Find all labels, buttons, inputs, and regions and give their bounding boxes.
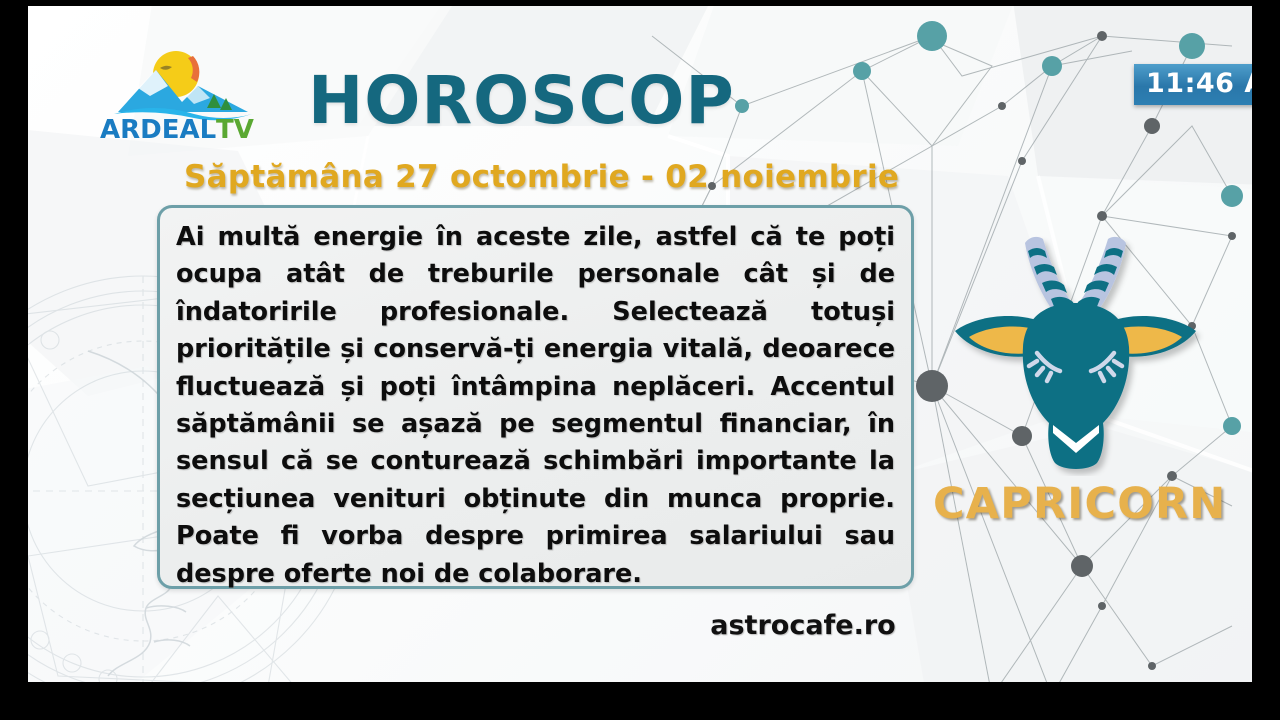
clock-badge: 11:46 AM <box>1134 64 1252 105</box>
source-credit: astrocafe.ro <box>628 610 978 641</box>
capricorn-goat-head-icon <box>933 211 1218 476</box>
graphics-stage: ARDEAL TV HOROSCOP Săptămâna 27 octombri… <box>28 6 1252 682</box>
logo-secondary-text: TV <box>216 115 254 145</box>
horoscope-text-card: Ai multă energie în aceste zile, astfel … <box>157 205 914 589</box>
week-range-subtitle: Săptămâna 27 octombrie - 02 noiembrie <box>184 160 899 194</box>
page-title: HOROSCOP <box>308 68 735 134</box>
broadcast-screen: ARDEAL TV HOROSCOP Săptămâna 27 octombri… <box>0 0 1280 720</box>
zodiac-sign-name: CAPRICORN <box>933 479 1223 529</box>
channel-logo: ARDEAL TV <box>98 46 268 141</box>
horoscope-body-text: Ai multă energie în aceste zile, astfel … <box>176 219 895 593</box>
logo-primary-text: ARDEAL <box>100 115 216 145</box>
